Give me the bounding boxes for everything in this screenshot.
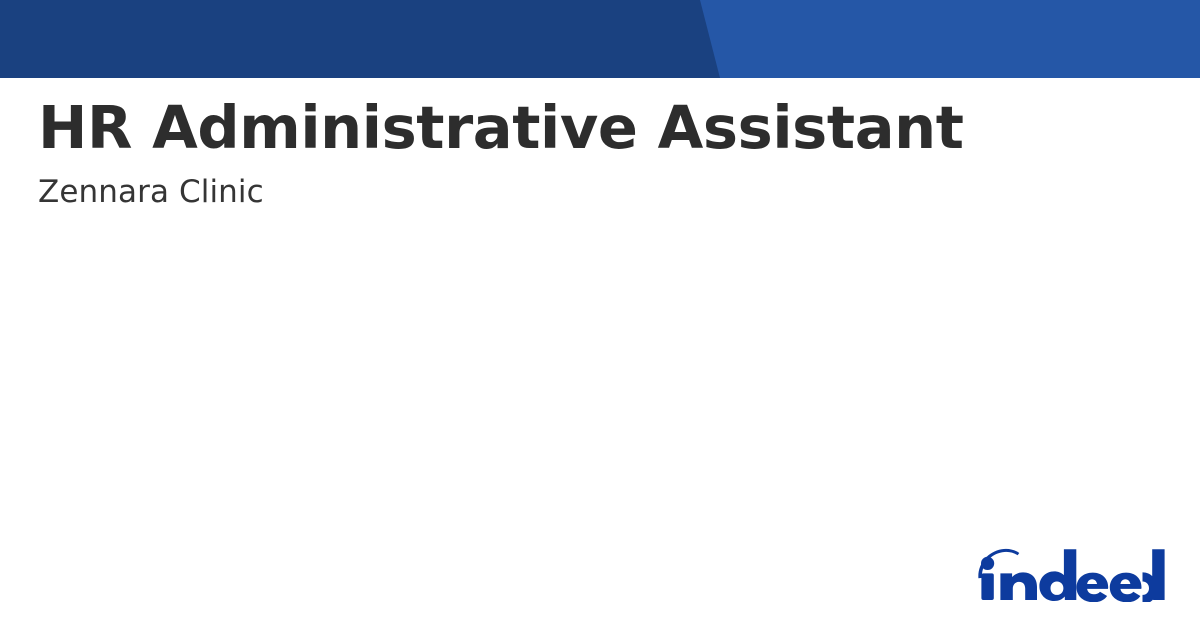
job-title: HR Administrative Assistant	[38, 96, 1138, 159]
job-preview-card: HR Administrative Assistant Zennara Clin…	[0, 0, 1200, 630]
letter-e-2	[1110, 573, 1142, 602]
indeed-wordmark-icon	[978, 549, 1164, 602]
letter-d-2	[1143, 549, 1165, 602]
letter-n	[1000, 572, 1037, 600]
header-banner	[0, 0, 1200, 78]
letter-i-stem	[981, 573, 993, 600]
indeed-logo[interactable]	[975, 544, 1165, 602]
banner-dark-blue-shape	[0, 0, 720, 78]
letter-e-1	[1077, 573, 1109, 602]
letter-i-dot	[981, 557, 994, 570]
company-name: Zennara Clinic	[38, 159, 1138, 211]
letter-d-1	[1039, 549, 1076, 601]
job-text-block: HR Administrative Assistant Zennara Clin…	[38, 96, 1138, 211]
